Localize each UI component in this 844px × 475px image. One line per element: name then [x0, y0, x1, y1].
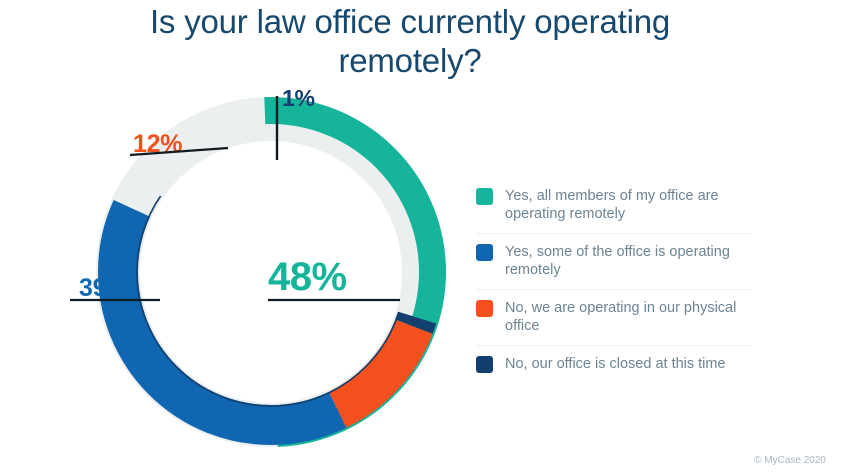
callout-label-39: 39% — [79, 274, 128, 303]
legend-label-no-physical: No, we are operating in our physical off… — [505, 299, 752, 335]
legend-swatch-icon-yes-some — [476, 244, 493, 261]
legend-item-no-physical[interactable]: No, we are operating in our physical off… — [476, 290, 752, 346]
page-title: Is your law office currently operating r… — [130, 2, 690, 80]
legend-label-no-closed: No, our office is closed at this time — [505, 355, 726, 373]
legend-swatch-icon-yes-all — [476, 188, 493, 205]
callout-label-12: 12% — [133, 130, 182, 159]
legend-label-yes-all: Yes, all members of my office are operat… — [505, 187, 752, 223]
legend-swatch-icon-no-physical — [476, 300, 493, 317]
infographic-canvas: Is your law office currently operating r… — [0, 0, 844, 475]
legend-item-yes-some[interactable]: Yes, some of the office is operating rem… — [476, 234, 752, 290]
chart-legend: Yes, all members of my office are operat… — [476, 178, 752, 383]
legend-swatch-icon-no-closed — [476, 356, 493, 373]
copyright-credit: © MyCase 2020 — [754, 455, 826, 466]
legend-item-yes-all[interactable]: Yes, all members of my office are operat… — [476, 178, 752, 234]
callout-label-48: 48% — [268, 255, 347, 300]
callout-label-1: 1% — [282, 85, 315, 112]
legend-label-yes-some: Yes, some of the office is operating rem… — [505, 243, 752, 279]
legend-item-no-closed[interactable]: No, our office is closed at this time — [476, 346, 752, 383]
